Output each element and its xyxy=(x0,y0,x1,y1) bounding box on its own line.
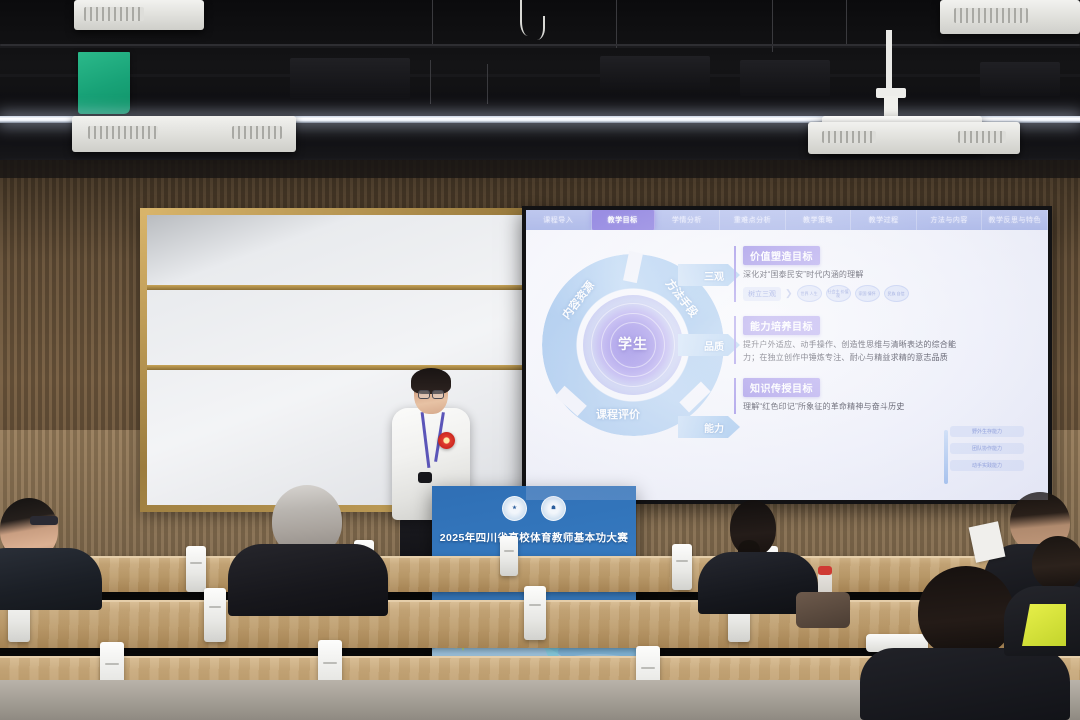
goal-value-shaping: 价值塑造目标 深化对“国泰民安”时代内涵的理解 树立三观 ❯ 世界 人生 社会主… xyxy=(734,246,1026,302)
side-gradient-bar xyxy=(944,430,948,484)
audience-torso xyxy=(228,544,388,616)
seat-post xyxy=(500,536,518,576)
projector-pole xyxy=(886,30,892,90)
ceiling-wire xyxy=(432,0,433,46)
slide-tab-4[interactable]: 教学策略 xyxy=(786,210,852,230)
side-pill-1: 团队协作能力 xyxy=(950,443,1024,454)
side-pill-0: 野外生存能力 xyxy=(950,426,1024,437)
glasses xyxy=(30,516,58,525)
arrow-label-2: 能力 xyxy=(704,420,724,435)
hvac-unit-left xyxy=(72,116,296,152)
ceiling-duct xyxy=(290,58,410,98)
red-badge-flower xyxy=(438,432,455,449)
goal-text-0: 深化对“国泰民安”时代内涵的理解 xyxy=(743,269,961,281)
arrow-pinzhi: 品质 xyxy=(678,334,740,356)
glasses xyxy=(418,390,444,397)
slide-tab-5[interactable]: 教学过程 xyxy=(851,210,917,230)
chip-1: 社会主 价值观 xyxy=(826,285,851,302)
hvac-unit-right-upper xyxy=(940,0,1080,34)
projection-screen-frame: 课程导入 教学目标 学情分析 重难点分析 教学策略 教学过程 方法与内容 教学反… xyxy=(522,206,1052,504)
ceiling-wire xyxy=(487,64,488,104)
ceiling-duct xyxy=(600,56,710,90)
ceiling-wire xyxy=(430,60,431,104)
seat-post xyxy=(524,586,546,640)
goal-title-0: 价值塑造目标 xyxy=(743,246,820,265)
ceiling-wire xyxy=(846,0,847,46)
audience-head xyxy=(918,566,1014,658)
diagram-center-label: 学生 xyxy=(583,334,683,354)
arrow-label-1: 品质 xyxy=(704,338,724,353)
slide-tab-0[interactable]: 课程导入 xyxy=(526,210,592,230)
bottle-cap xyxy=(818,566,832,575)
goal-title-1: 能力培养目标 xyxy=(743,316,820,335)
chip-0: 世界 人生 xyxy=(797,285,822,302)
ceiling-duct xyxy=(980,62,1060,96)
slide-tab-1[interactable]: 教学目标 xyxy=(592,210,655,230)
slide-tab-6[interactable]: 方法与内容 xyxy=(917,210,983,230)
ceiling-duct xyxy=(740,60,830,96)
goal-ability-cultivation: 能力培养目标 提升户外适应、动手操作、创造性思维与清晰表达的综合能力；在独立创作… xyxy=(734,316,1026,364)
hanging-cable xyxy=(529,16,545,40)
audience-torso xyxy=(860,648,1070,720)
slide-tab-3[interactable]: 重难点分析 xyxy=(720,210,786,230)
presentation-clicker xyxy=(418,472,432,483)
arrow-nengli: 能力 xyxy=(678,416,740,438)
seat-post xyxy=(672,544,692,590)
goal-knowledge-transfer: 知识传授目标 理解“红色印记”所象征的革命精神与奋斗历史 xyxy=(734,378,1026,413)
ceiling-cable-run xyxy=(0,44,1080,46)
audience-torso xyxy=(0,548,102,610)
goal-text-2: 理解“红色印记”所象征的革命精神与奋斗历史 xyxy=(743,401,961,413)
hvac-unit-left-upper xyxy=(74,0,204,30)
ring-label-evaluation: 课程评价 xyxy=(596,406,640,422)
goal-chip-row: 树立三观 ❯ 世界 人生 社会主 价值观 家国 情怀 民族 自信 xyxy=(743,285,1026,302)
slide-tabbar: 课程导入 教学目标 学情分析 重难点分析 教学策略 教学过程 方法与内容 教学反… xyxy=(526,210,1048,230)
green-hanging-cloth xyxy=(78,52,130,114)
chip-2: 家国 情怀 xyxy=(855,285,880,302)
projection-screen: 课程导入 教学目标 学情分析 重难点分析 教学策略 教学过程 方法与内容 教学反… xyxy=(526,210,1048,500)
side-pill-list: 野外生存能力 团队协作能力 动手实践能力 xyxy=(950,426,1024,477)
goal-text-1: 提升户外适应、动手操作、创造性思维与清晰表达的综合能力；在独立创作中锤炼专注、耐… xyxy=(743,339,961,364)
handbag xyxy=(796,592,850,628)
lecture-hall-photo: 课程导入 教学目标 学情分析 重难点分析 教学策略 教学过程 方法与内容 教学反… xyxy=(0,0,1080,720)
ceiling-wire xyxy=(616,0,617,48)
chip-lead-0: 树立三观 xyxy=(743,287,781,301)
slide-tab-2[interactable]: 学情分析 xyxy=(655,210,721,230)
goal-title-2: 知识传授目标 xyxy=(743,378,820,397)
goal-list: 价值塑造目标 深化对“国泰民安”时代内涵的理解 树立三观 ❯ 世界 人生 社会主… xyxy=(734,246,1026,424)
diagram-core: 学生 xyxy=(583,295,683,395)
chevron-right-icon: ❯ xyxy=(785,288,793,299)
chip-3: 民族 自信 xyxy=(884,285,909,302)
seat-post xyxy=(204,588,226,642)
banner-emblems: ★ ☗ xyxy=(432,496,636,521)
arrow-label-0: 三观 xyxy=(704,268,724,283)
banner-subtitle: 2025年四川省高校体育教师基本功大赛 xyxy=(432,530,636,545)
university-emblem-left: ★ xyxy=(502,496,527,521)
university-emblem-right: ☗ xyxy=(541,496,566,521)
audience-head xyxy=(1032,536,1080,590)
slide-body: 内容资源 方法手段 课程评价 学生 三观 品质 xyxy=(526,230,1048,500)
arrow-sanguan: 三观 xyxy=(678,264,740,286)
ceiling-beam xyxy=(0,74,1080,77)
slide-tab-7[interactable]: 教学反思与特色 xyxy=(982,210,1048,230)
side-pill-2: 动手实践能力 xyxy=(950,460,1024,471)
whiteboard xyxy=(140,208,544,512)
seat-post xyxy=(186,546,206,592)
hvac-unit-right xyxy=(808,122,1020,154)
